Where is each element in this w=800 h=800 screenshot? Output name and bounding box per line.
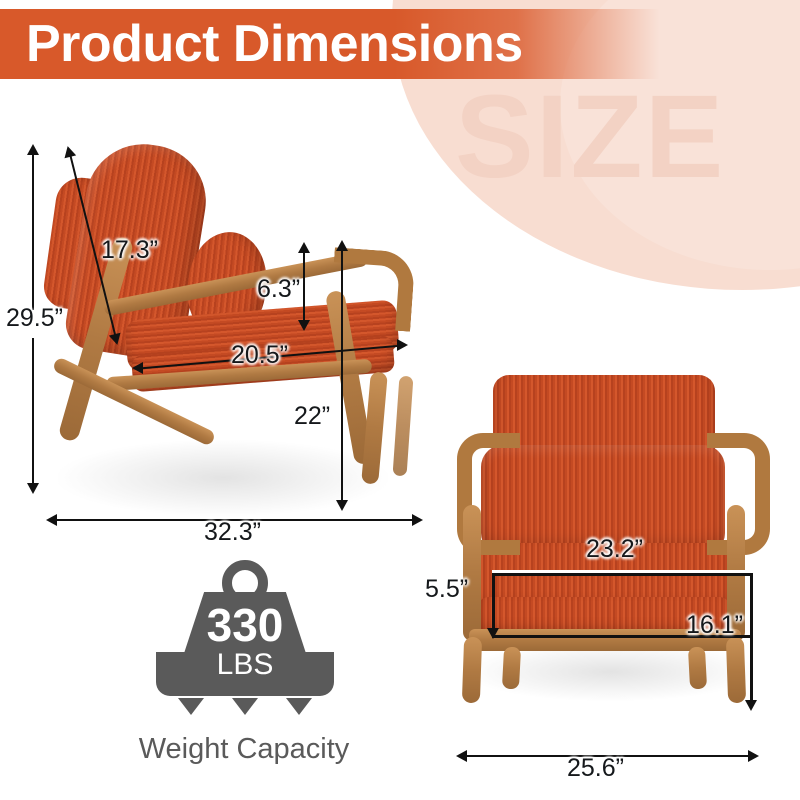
dim-arrow-arm-clearance-top <box>298 242 310 253</box>
wood-left-upright-front <box>463 505 481 641</box>
dim-line-overall-height <box>32 152 34 310</box>
dim-line-seat-width <box>492 573 752 576</box>
dim-label-seat-depth: 20.5” <box>231 341 288 370</box>
weight-capacity-caption: Weight Capacity <box>108 732 380 766</box>
dim-arrow-overall-depth-right <box>412 514 423 526</box>
dim-arrow-overall-depth-left <box>46 514 57 526</box>
dim-label-cushion-thickness: 5.5” <box>425 575 468 604</box>
dim-label-seat-width: 23.2” <box>586 535 643 564</box>
dim-arrow-overall-width-right <box>748 750 759 762</box>
dim-label-seat-height: 16.1” <box>686 611 743 640</box>
wood-outer-leg-right <box>726 637 746 704</box>
dim-line-seat-height <box>750 573 753 706</box>
dim-line-seat-width-highlight <box>492 570 752 573</box>
dim-arrow-seat-height-bottom <box>745 700 757 711</box>
wood-rear-leg-far <box>393 376 414 477</box>
down-arrow-icon-2 <box>232 698 258 715</box>
dim-line-arm-clearance <box>303 250 305 324</box>
weight-capacity-number: 330 <box>172 600 318 650</box>
down-arrow-icon-1 <box>178 698 204 715</box>
weight-capacity-badge: 330 LBS Weight Capacity <box>120 556 370 756</box>
dim-arrow-seat-depth-left <box>132 362 143 374</box>
dim-arrow-back-height-bottom <box>336 500 348 511</box>
dim-arrow-seat-depth-right <box>397 339 408 351</box>
dim-label-overall-depth: 32.3” <box>204 518 261 547</box>
down-arrow-icon-3 <box>286 698 312 715</box>
dim-label-back-height: 22” <box>294 402 330 431</box>
dim-line-overall-height-b <box>32 338 34 490</box>
dim-line-back-height <box>341 248 343 506</box>
dim-arrow-overall-height-top <box>27 144 39 155</box>
chair-side-view-illustration <box>40 140 430 520</box>
dim-arrow-back-height-top <box>336 240 348 251</box>
weight-capacity-unit: LBS <box>172 648 318 682</box>
dim-arrow-overall-width-left <box>456 750 467 762</box>
dim-label-overall-width: 25.6” <box>567 754 624 783</box>
dim-label-arm-clearance: 6.3” <box>257 275 300 304</box>
page-title: Product Dimensions <box>26 12 523 76</box>
wood-front-leg-right <box>688 647 707 690</box>
dim-line-cushion-thickness <box>492 573 495 635</box>
product-dimensions-infographic: SIZE Product Dimensions <box>0 0 800 800</box>
dim-label-backrest-height: 17.3” <box>101 236 158 265</box>
dim-arrow-overall-height-bottom <box>27 483 39 494</box>
wood-outer-leg-left <box>462 637 482 704</box>
dim-arrow-arm-clearance-bottom <box>298 320 310 331</box>
dim-label-overall-height: 29.5” <box>6 304 63 333</box>
size-watermark-text: SIZE <box>455 78 725 196</box>
wood-front-leg-left <box>502 647 521 690</box>
